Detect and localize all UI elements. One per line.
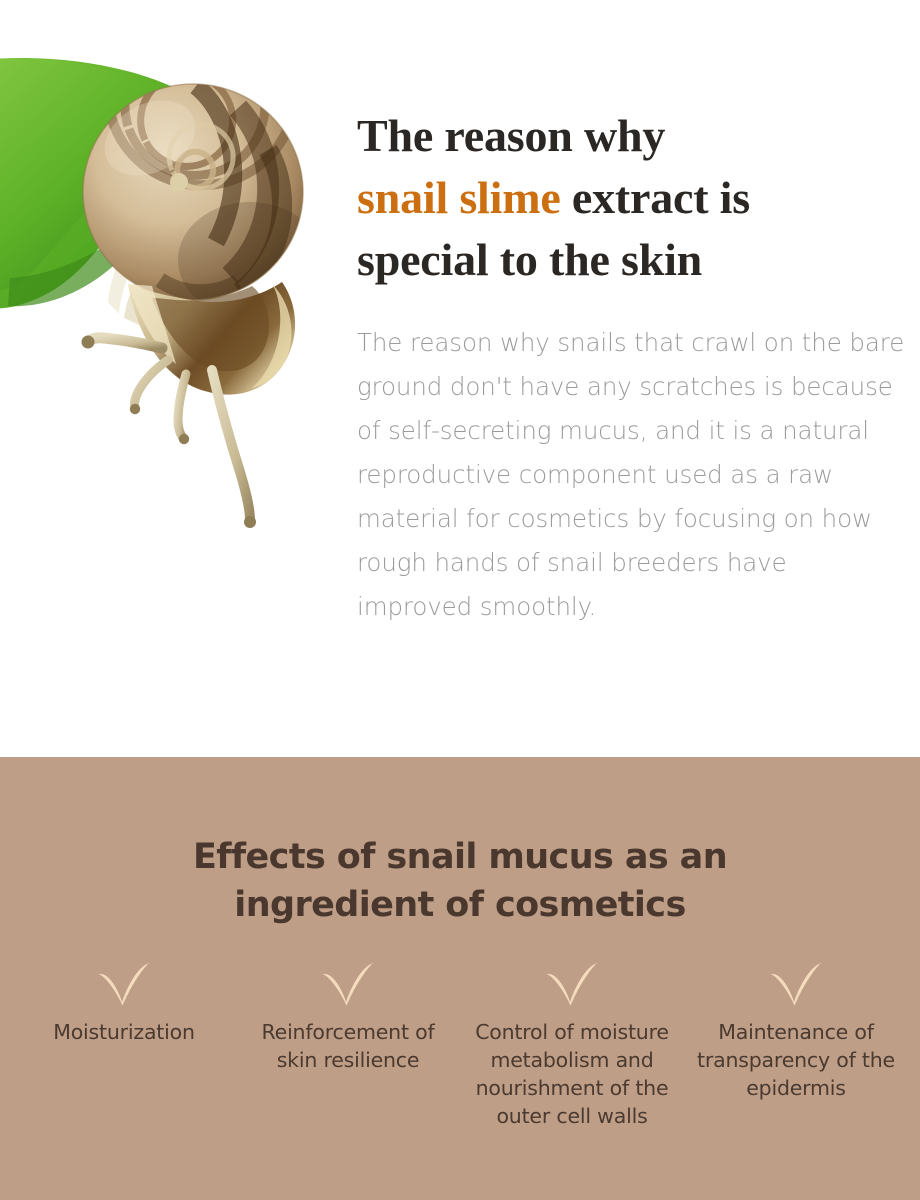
headline-line-3: special to the skin bbox=[357, 234, 702, 285]
page-title: The reason why snail slime extract is sp… bbox=[357, 105, 897, 291]
effects-title-line-1: Effects of snail mucus as an bbox=[193, 837, 727, 877]
check-icon bbox=[768, 962, 824, 1006]
effects-grid: Moisturization Reinforcement of skin res… bbox=[12, 962, 908, 1130]
effects-title: Effects of snail mucus as an ingredient … bbox=[0, 833, 920, 929]
snail-photo bbox=[0, 30, 345, 540]
headline-accent: snail slime bbox=[357, 172, 561, 223]
effect-item-moisturization: Moisturization bbox=[12, 962, 236, 1046]
effect-label: Control of moisture metabolism and nouri… bbox=[460, 1018, 684, 1130]
effects-section: Effects of snail mucus as an ingredient … bbox=[0, 757, 920, 1200]
effect-item-moisture-metabolism: Control of moisture metabolism and nouri… bbox=[460, 962, 684, 1130]
check-icon bbox=[320, 962, 376, 1006]
headline-line-2-rest: extract is bbox=[561, 172, 750, 223]
headline-line-1: The reason why bbox=[357, 110, 665, 161]
check-icon bbox=[96, 962, 152, 1006]
effect-item-resilience: Reinforcement of skin resilience bbox=[236, 962, 460, 1074]
hero-section: The reason why snail slime extract is sp… bbox=[0, 0, 920, 757]
effect-label: Reinforcement of skin resilience bbox=[236, 1018, 460, 1074]
promo-page: The reason why snail slime extract is sp… bbox=[0, 0, 920, 1200]
effect-label: Moisturization bbox=[49, 1018, 199, 1046]
effects-title-line-2: ingredient of cosmetics bbox=[234, 885, 685, 925]
effect-label: Maintenance of transparency of the epide… bbox=[684, 1018, 908, 1102]
check-icon bbox=[544, 962, 600, 1006]
hero-description: The reason why snails that crawl on the … bbox=[357, 321, 907, 629]
snail-illustration bbox=[0, 30, 345, 540]
effect-item-epidermis-transparency: Maintenance of transparency of the epide… bbox=[684, 962, 908, 1102]
